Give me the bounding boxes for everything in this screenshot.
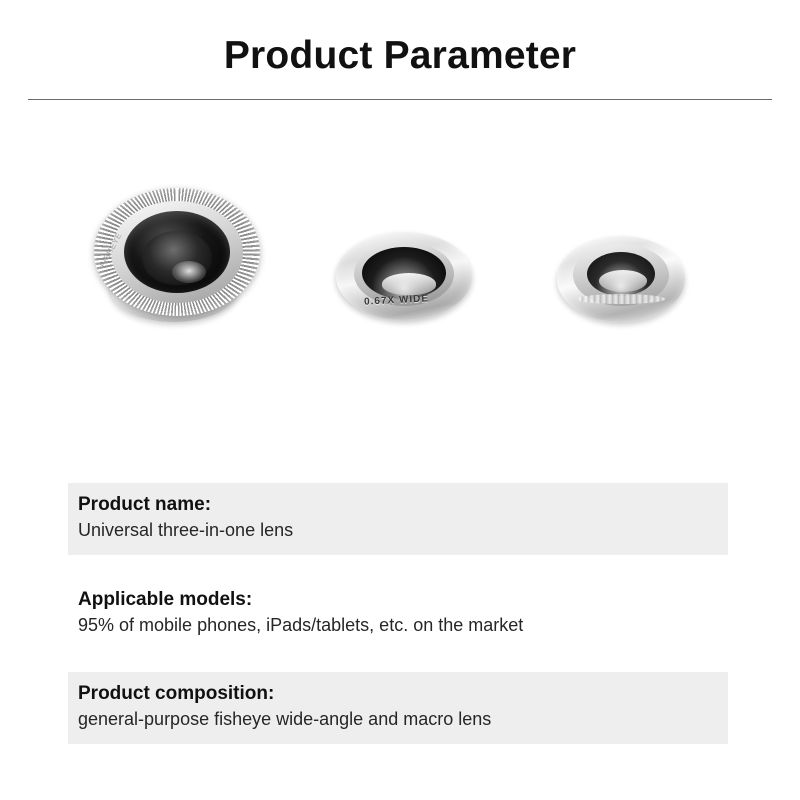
wide-angle-glass bbox=[362, 247, 446, 299]
wide-angle-reflection bbox=[382, 273, 436, 295]
spec-label: Product composition: bbox=[78, 681, 718, 706]
spec-value: 95% of mobile phones, iPads/tablets, etc… bbox=[78, 613, 718, 639]
macro-lens-image bbox=[551, 234, 691, 326]
title-divider bbox=[28, 99, 772, 100]
fisheye-knurled-ring: FISHEYE bbox=[94, 188, 260, 316]
macro-lip-highlight bbox=[599, 270, 647, 292]
page-title: Product Parameter bbox=[0, 34, 800, 78]
fisheye-dome bbox=[142, 231, 212, 285]
macro-bore bbox=[587, 252, 655, 296]
lens-gallery: FISHEYE 0.67X WIDE Fisheye bbox=[0, 150, 800, 400]
spec-row: Product name: Universal three-in-one len… bbox=[68, 483, 728, 555]
spec-row: Applicable models: 95% of mobile phones,… bbox=[68, 578, 728, 650]
spec-label: Applicable models: bbox=[78, 587, 718, 612]
spec-label: Product name: bbox=[78, 492, 718, 517]
fisheye-highlight bbox=[172, 261, 206, 283]
spec-table: Product name: Universal three-in-one len… bbox=[68, 483, 728, 744]
fisheye-glass bbox=[124, 211, 230, 293]
wide-angle-barrel: 0.67X WIDE bbox=[336, 232, 472, 320]
spec-value: general-purpose fisheye wide-angle and m… bbox=[78, 707, 718, 733]
fisheye-lens-image: FISHEYE bbox=[92, 180, 262, 330]
wide-angle-lens-image: 0.67X WIDE bbox=[330, 228, 478, 326]
spec-value: Universal three-in-one lens bbox=[78, 518, 718, 544]
spec-row: Product composition: general-purpose fis… bbox=[68, 672, 728, 744]
macro-thread-detail bbox=[577, 294, 665, 304]
spec-spacer bbox=[68, 649, 728, 672]
macro-barrel bbox=[557, 236, 685, 322]
spec-spacer bbox=[68, 555, 728, 578]
